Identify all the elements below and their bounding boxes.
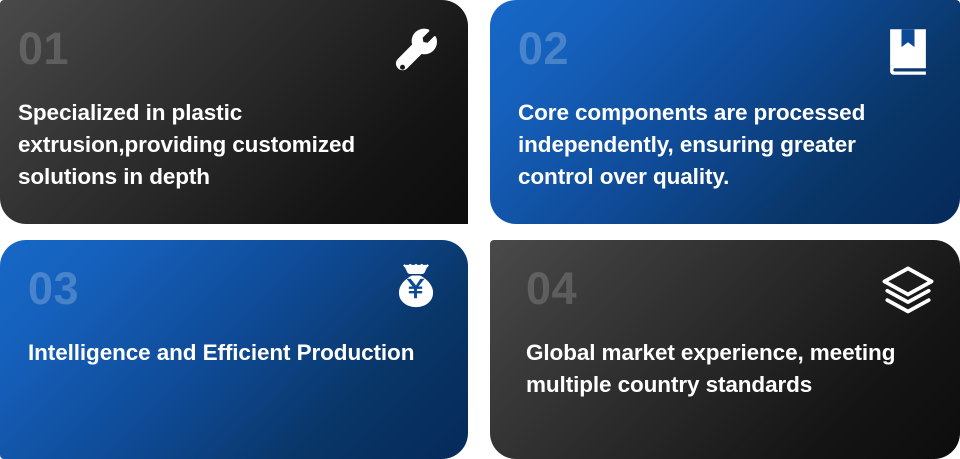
feature-card-02[interactable]: 02 Core components are processed indepen…	[490, 0, 960, 224]
card-number-04: 04	[526, 266, 932, 311]
feature-cards-grid: 01 Specialized in plastic extrusion,prov…	[0, 0, 960, 459]
card-number-02: 02	[518, 26, 932, 71]
feature-card-04[interactable]: 04 Global market experience, meeting mul…	[490, 240, 960, 459]
card-text-04: Global market experience, meeting multip…	[526, 337, 926, 401]
card-text-03: Intelligence and Efficient Production	[28, 337, 440, 369]
feature-card-01[interactable]: 01 Specialized in plastic extrusion,prov…	[0, 0, 468, 224]
card-text-01: Specialized in plastic extrusion,providi…	[18, 97, 440, 193]
card-text-02: Core components are processed independen…	[518, 97, 932, 193]
card-number-01: 01	[18, 26, 440, 71]
feature-card-03[interactable]: 03 Intelligence and Efficient Production	[0, 240, 468, 459]
card-number-03: 03	[28, 266, 440, 311]
